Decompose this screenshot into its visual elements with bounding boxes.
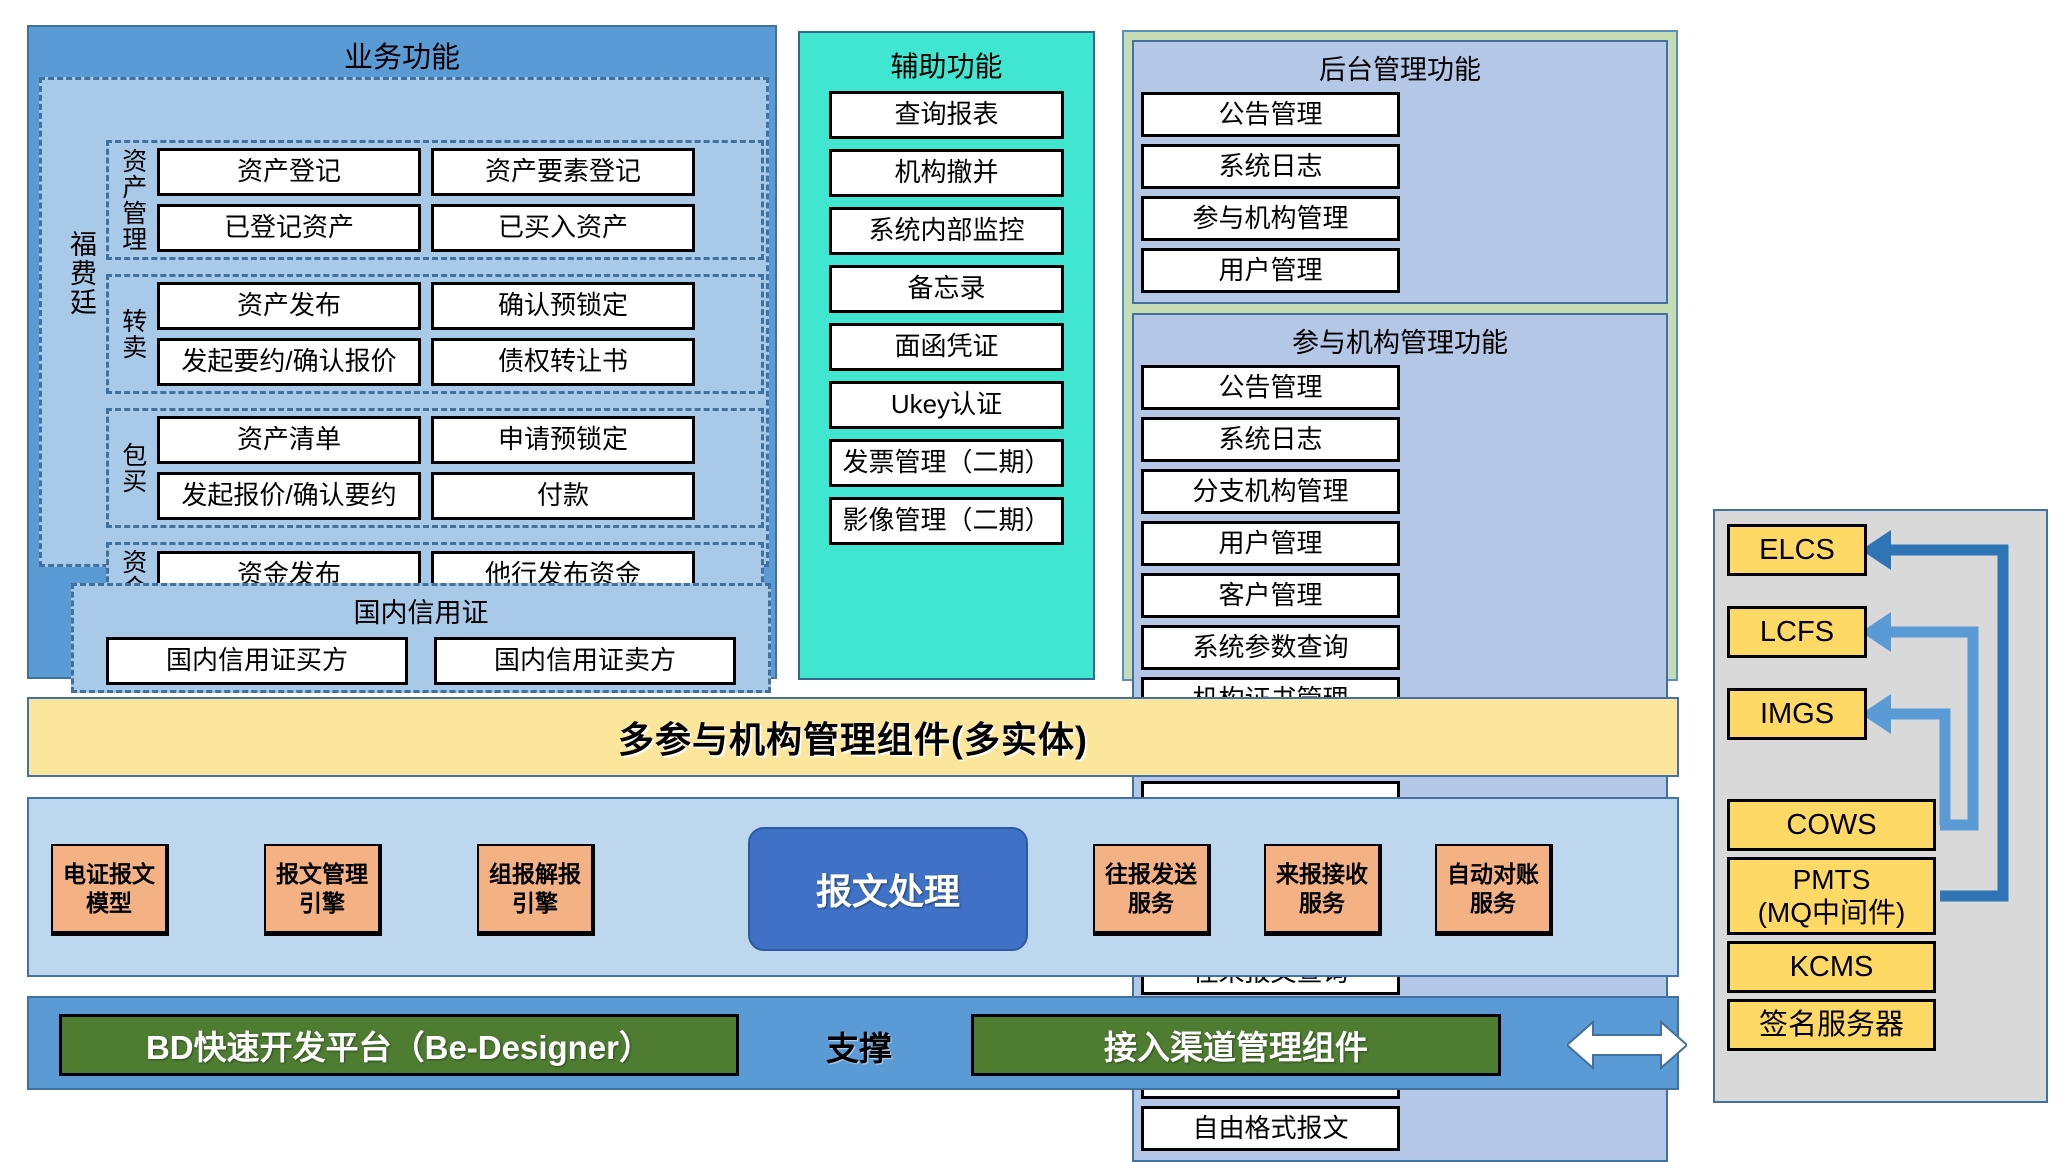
aux-item[interactable]: 机构撤并 — [829, 149, 1064, 197]
admin-item[interactable]: 客户管理 — [1141, 573, 1400, 618]
system-box-cows[interactable]: COWS — [1727, 799, 1936, 851]
aux-item[interactable]: 备忘录 — [829, 265, 1064, 313]
domestic-lc-item[interactable]: 国内信用证卖方 — [434, 637, 736, 685]
group-purchase: 包买 资产清单 申请预锁定 发起报价/确认要约 付款 — [106, 408, 764, 528]
admin-item[interactable]: 用户管理 — [1141, 248, 1400, 293]
admin-item[interactable]: 系统日志 — [1141, 417, 1400, 462]
channel-component-button[interactable]: 接入渠道管理组件 — [971, 1014, 1501, 1076]
business-item[interactable]: 资产清单 — [157, 416, 421, 464]
business-item[interactable]: 已买入资产 — [431, 204, 695, 252]
message-processing-band: 电证报文模型 报文管理引擎 组报解报引擎 报文处理 往报发送服务 来报接收服务 … — [27, 797, 1679, 977]
business-functions-panel: 业务功能 福费廷 资产管理 资产登记 资产要素登记 已登记资产 已买入资产 转卖… — [27, 25, 777, 679]
business-item[interactable]: 发起要约/确认报价 — [157, 338, 421, 386]
msg-component[interactable]: 往报发送服务 — [1093, 844, 1211, 936]
admin-item[interactable]: 自由格式报文 — [1141, 1106, 1400, 1151]
system-box-lcfs[interactable]: LCFS — [1727, 606, 1867, 658]
system-box-kcms[interactable]: KCMS — [1727, 941, 1936, 993]
business-item[interactable]: 申请预锁定 — [431, 416, 695, 464]
group-label-resale: 转卖 — [109, 308, 155, 360]
forfaiting-label: 福费廷 — [52, 230, 96, 317]
business-item[interactable]: 资产登记 — [157, 148, 421, 196]
double-arrow-icon — [1567, 1018, 1687, 1072]
business-item[interactable]: 付款 — [431, 472, 695, 520]
admin-item[interactable]: 公告管理 — [1141, 365, 1400, 410]
admin-item[interactable]: 用户管理 — [1141, 521, 1400, 566]
architecture-diagram: 业务功能 福费廷 资产管理 资产登记 资产要素登记 已登记资产 已买入资产 转卖… — [0, 0, 2072, 1112]
aux-item[interactable]: 查询报表 — [829, 91, 1064, 139]
system-box-signature-server[interactable]: 签名服务器 — [1727, 999, 1936, 1051]
aux-item[interactable]: 发票管理（二期） — [829, 439, 1064, 487]
msg-component[interactable]: 报文管理引擎 — [264, 844, 382, 936]
multi-org-component-bar: 多参与机构管理组件(多实体) — [27, 697, 1679, 777]
group-label-asset-management: 资产管理 — [109, 148, 155, 252]
aux-item[interactable]: Ukey认证 — [829, 381, 1064, 429]
forfaiting-group: 福费廷 资产管理 资产登记 资产要素登记 已登记资产 已买入资产 转卖 资产发布… — [39, 77, 769, 567]
aux-item[interactable]: 系统内部监控 — [829, 207, 1064, 255]
admin-item[interactable]: 参与机构管理 — [1141, 196, 1400, 241]
admin-item[interactable]: 系统参数查询 — [1141, 625, 1400, 670]
message-processing-core[interactable]: 报文处理 — [748, 827, 1028, 951]
group-resale: 转卖 资产发布 确认预锁定 发起要约/确认报价 债权转让书 — [106, 274, 764, 394]
participant-org-title: 参与机构管理功能 — [1141, 319, 1659, 365]
domestic-lc-group: 国内信用证 国内信用证买方 国内信用证卖方 — [71, 583, 771, 693]
msg-component[interactable]: 自动对账服务 — [1435, 844, 1553, 936]
multi-org-title: 多参与机构管理组件(多实体) — [618, 711, 1088, 763]
auxiliary-functions-panel: 辅助功能 查询报表 机构撤并 系统内部监控 备忘录 面函凭证 Ukey认证 发票… — [798, 31, 1095, 680]
system-box-elcs[interactable]: ELCS — [1727, 524, 1867, 576]
system-box-pmts[interactable]: PMTS(MQ中间件) — [1727, 857, 1936, 935]
support-label: 支撑 — [789, 1024, 929, 1068]
group-label-purchase: 包买 — [109, 442, 155, 494]
aux-item[interactable]: 影像管理（二期） — [829, 497, 1064, 545]
msg-component[interactable]: 来报接收服务 — [1264, 844, 1382, 936]
group-asset-management: 资产管理 资产登记 资产要素登记 已登记资产 已买入资产 — [106, 140, 764, 260]
system-box-imgs[interactable]: IMGS — [1727, 688, 1867, 740]
business-item[interactable]: 债权转让书 — [431, 338, 695, 386]
business-item[interactable]: 确认预锁定 — [431, 282, 695, 330]
domestic-lc-item[interactable]: 国内信用证买方 — [106, 637, 408, 685]
business-item[interactable]: 已登记资产 — [157, 204, 421, 252]
admin-item[interactable]: 系统日志 — [1141, 144, 1400, 189]
aux-item[interactable]: 面函凭证 — [829, 323, 1064, 371]
business-functions-title: 业务功能 — [29, 27, 775, 72]
support-platform-bar: BD快速开发平台（Be-Designer） 支撑 接入渠道管理组件 — [27, 996, 1679, 1090]
business-item[interactable]: 资产发布 — [157, 282, 421, 330]
external-systems-panel: ELCS LCFS IMGS COWS PMTS(MQ中间件) KCMS 签名服… — [1713, 509, 2048, 1103]
business-item[interactable]: 发起报价/确认要约 — [157, 472, 421, 520]
msg-component[interactable]: 电证报文模型 — [51, 844, 169, 936]
bd-platform-button[interactable]: BD快速开发平台（Be-Designer） — [59, 1014, 739, 1076]
domestic-lc-title: 国内信用证 — [74, 586, 768, 630]
msg-component[interactable]: 组报解报引擎 — [477, 844, 595, 936]
admin-item[interactable]: 公告管理 — [1141, 92, 1400, 137]
backend-admin-title: 后台管理功能 — [1141, 46, 1659, 92]
auxiliary-functions-title: 辅助功能 — [800, 33, 1093, 85]
business-item[interactable]: 资产要素登记 — [431, 148, 695, 196]
admin-functions-panel: 后台管理功能 公告管理 系统日志 参与机构管理 用户管理 参与机构管理功能 公告… — [1122, 30, 1678, 681]
backend-admin-subpanel: 后台管理功能 公告管理 系统日志 参与机构管理 用户管理 — [1132, 40, 1668, 304]
admin-item[interactable]: 分支机构管理 — [1141, 469, 1400, 514]
